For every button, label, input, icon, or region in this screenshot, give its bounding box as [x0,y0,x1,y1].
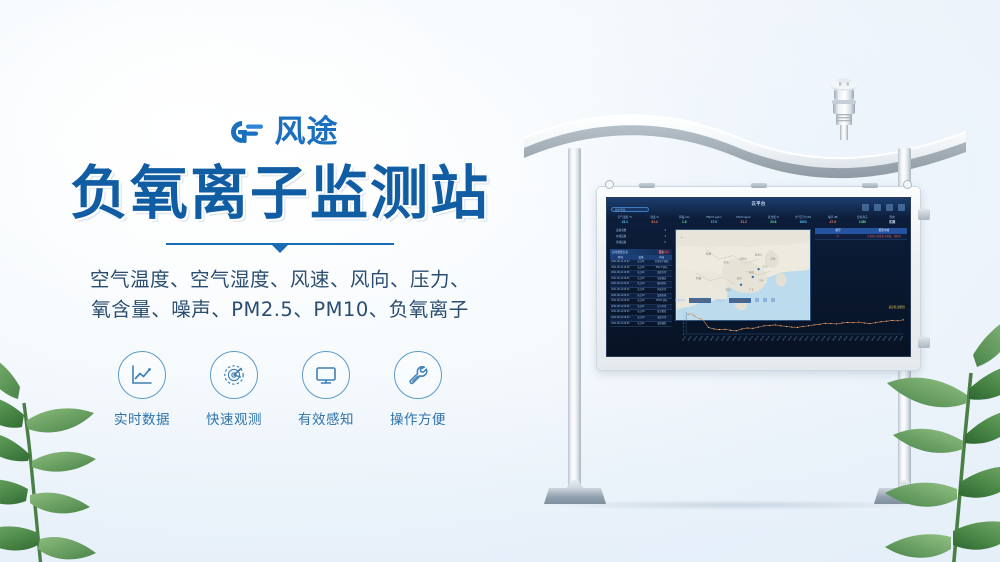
table-row[interactable]: 2021-08-12 08:06站点01湿度偏低 [610,322,672,328]
table-cell: 2021-08-12 08:06 [610,322,631,327]
device-stat-value: 3 [665,229,666,233]
mounting-lug-icon [903,180,912,189]
svg-text:广东: 广东 [749,288,755,292]
table-cell: 风速异常 [651,288,672,293]
kpi-value: 1280 [848,220,878,225]
device-stat-label: 在线设备 [616,235,626,239]
chart-type-select[interactable] [729,298,751,303]
login-label: 用户登录 [612,208,648,213]
svg-text:四川: 四川 [737,276,743,280]
table-cell: 2021-08-12 08:33 [610,310,631,315]
feature-label: 操作方便 [390,408,446,428]
svg-text:08-22: 08-22 [799,335,804,341]
poster-canvas: 风途 负氧离子监测站 空气温度、空气湿度、风速、风向、压力、 氧含量、噪声、PM… [0,0,1000,562]
kpi-value: 31.2 [729,220,759,225]
svg-text:08-18: 08-18 [777,335,782,341]
kpi-item: 风向东南 [877,216,907,225]
svg-text:08-25: 08-25 [816,335,821,341]
table-cell: 站点01 [631,260,652,265]
svg-text:08-12: 08-12 [743,335,748,341]
kpi-item: 噪声 dB47.6 [818,216,848,225]
table-cell: 2021-08-12 09:41 [610,282,631,287]
device-stat-value: 0 [665,241,666,245]
svg-text:08-15: 08-15 [760,335,765,341]
dashboard-screen[interactable]: 云平台 用户登录 空气温度 ℃23.1湿度 %61.4风速 m/s1.8PM2.… [606,197,911,357]
left-panel: 设备总数3在线设备3离线设备0 实时报警信息 更多 >> 时间设备内容 2021… [610,228,672,353]
device-stat-label: 离线设备 [616,241,626,245]
svg-text:08-16: 08-16 [766,335,771,341]
chart-controls[interactable]: 开始时间 数据类型 [675,298,907,303]
kpi-item: 空气温度 ℃23.1 [610,216,640,225]
svg-text:6: 6 [683,315,685,317]
kpi-item: 氧含量 %20.8 [759,216,789,225]
svg-text:09-07: 09-07 [888,335,893,341]
kpi-value: 23.1 [610,220,640,225]
table-cell: 站点01 [631,322,652,327]
svg-text:08-31: 08-31 [849,335,854,341]
alarm-panel-cell: 负氧离子浓度低于阈值，请检查 [861,234,907,239]
marketing-text-column: 风途 负氧离子监测站 空气温度、空气湿度、风速、风向、压力、 氧含量、噪声、PM… [0,0,560,562]
brand-logo: 风途 [222,112,339,152]
chart-date-input[interactable] [689,298,711,303]
svg-text:08-26: 08-26 [821,335,826,341]
svg-text:08-14: 08-14 [755,335,760,341]
brand-name: 风途 [275,117,339,148]
kpi-item: 大气压力 hPa1003 [788,216,818,225]
alarm-list-body: 2021-08-12 10:22站点01负氧离子偏低2021-08-12 10:… [610,260,672,327]
svg-text:09-04: 09-04 [872,335,877,341]
table-cell: 设备离线 [651,294,672,299]
table-cell: 2021-08-12 08:48 [610,305,631,310]
svg-text:云南: 云南 [725,288,731,292]
feature-icon-circle [302,351,350,399]
svg-text:09-03: 09-03 [866,335,871,341]
monitor-icon [313,362,339,388]
wall-bracket-icon [918,337,930,348]
svg-text:08-03: 08-03 [693,335,698,341]
table-cell: 压力异常 [651,305,672,310]
svg-text:4: 4 [683,322,685,324]
toolbar-icon-2[interactable] [874,204,881,211]
feature-label: 快速观测 [206,408,262,428]
feature-item-realtime-data[interactable]: 实时数据 [109,351,175,428]
svg-text:08-02: 08-02 [688,335,693,341]
feature-icon-circle [210,351,258,399]
chart-type-label: 数据类型 [715,298,725,302]
table-cell: 负氧离子偏低 [651,260,672,265]
kpi-item: PM10 ug/m³31.2 [729,216,759,225]
table-cell: 温度异常 [651,271,672,276]
svg-text:西藏: 西藏 [696,276,702,280]
chart-date-label: 开始时间 [675,298,685,302]
device-stats: 设备总数3在线设备3离线设备0 [610,228,672,246]
history-line-chart: 012456708-0108-0208-0308-0408-0508-0608-… [675,309,907,345]
mounting-clip-icon [751,183,767,188]
table-cell: 2021-08-12 09:54 [610,277,631,282]
mounting-clip-icon [862,183,878,188]
table-cell: 站点01 [631,305,652,310]
table-cell: 2021-08-12 10:22 [610,260,631,265]
monitoring-station-illustration: 云平台 用户登录 空气温度 ℃23.1湿度 %61.4风速 m/s1.8PM2.… [520,0,1000,562]
table-cell: 站点03 [631,294,652,299]
table-cell: 站点01 [631,288,652,293]
table-cell: 站点02 [631,282,652,287]
table-cell: 2021-08-12 09:30 [610,288,631,293]
kpi-item: 湿度 %61.4 [640,216,670,225]
svg-text:08-20: 08-20 [788,335,793,341]
table-cell: 站点02 [631,299,652,304]
table-cell: 湿度偏低 [651,322,672,327]
table-cell: PM2.5 超标 [651,266,672,271]
chart-button-1[interactable] [755,298,759,302]
support-post-left [568,148,581,496]
svg-text:09-05: 09-05 [877,335,882,341]
table-cell: 2021-08-12 10:05 [610,271,631,276]
table-cell: 站点02 [631,316,652,321]
feature-label: 有效感知 [298,408,354,428]
device-stat-row: 离线设备0 [610,240,672,246]
feature-icon-circle [118,351,166,399]
page-title: 负氧离子监测站 [70,162,490,225]
dashboard-toolbar[interactable] [862,204,905,211]
svg-text:08-11: 08-11 [738,335,743,341]
post-base-plate-left [544,488,606,504]
svg-text:08-09: 08-09 [727,335,732,341]
svg-text:08-13: 08-13 [749,335,754,341]
toolbar-icon-3[interactable] [886,204,893,211]
parameter-list-line-1: 空气温度、空气湿度、风速、风向、压力、 [90,265,470,295]
table-cell: 站点03 [631,277,652,282]
feature-label: 实时数据 [114,408,170,428]
display-housing: 云平台 用户登录 空气温度 ℃23.1湿度 %61.4风速 m/s1.8PM2.… [596,186,921,371]
kpi-value: 1.8 [669,220,699,225]
dashboard: 云平台 用户登录 空气温度 ℃23.1湿度 %61.4风速 m/s1.8PM2.… [607,198,910,356]
alarm-rows: 01负氧离子浓度低于阈值，请检查 [815,234,907,240]
svg-text:新疆: 新疆 [706,251,712,255]
feature-item-effective-sensing[interactable]: 有效感知 [293,351,359,428]
kpi-value: 17.0 [699,220,729,225]
table-cell: PM10 超标 [651,299,672,304]
table-cell: 氧含量低 [651,310,672,315]
svg-text:山东: 山东 [763,264,769,268]
line-chart-icon [129,362,155,388]
svg-text:青海: 青海 [723,260,729,264]
kpi-value: 61.4 [640,220,670,225]
device-stat-value: 3 [665,235,666,239]
chart-legend: 最高值 最低值 [889,305,905,309]
divider-triangle-icon [271,244,289,253]
post-base-plate-right [874,488,936,504]
svg-text:09-08: 09-08 [894,335,899,341]
svg-text:08-23: 08-23 [805,335,810,341]
kpi-item: 风速 m/s1.8 [669,216,699,225]
table-cell: 温度异常 [651,316,672,321]
device-stat-label: 设备总数 [616,229,626,233]
svg-text:09-09: 09-09 [899,335,904,341]
chart-button-3[interactable] [771,298,775,302]
table-cell: 2021-08-12 09:02 [610,299,631,304]
svg-text:08-07: 08-07 [716,335,721,341]
svg-text:08-04: 08-04 [699,335,704,341]
wrench-icon [405,362,431,388]
feature-item-easy-operation[interactable]: 操作方便 [385,351,451,428]
alarm-list-more-link[interactable]: 更多 >> [657,250,670,254]
parameter-list: 空气温度、空气湿度、风速、风向、压力、 氧含量、噪声、PM2.5、PM10、负氧… [90,265,470,325]
toolbar-icon-4[interactable] [898,204,905,211]
svg-text:08-17: 08-17 [771,335,776,341]
alarm-panel-cell: 01 [815,234,861,239]
svg-text:09-02: 09-02 [860,335,865,341]
ultrasonic-weather-sensor [820,78,868,142]
svg-text:08-30: 08-30 [844,335,849,341]
login-button[interactable]: 用户登录 [611,207,649,212]
svg-text:08-19: 08-19 [782,335,787,341]
table-cell: 2021-08-12 08:20 [610,316,631,321]
kpi-item: 负氧离子1280 [848,216,878,225]
gf-monogram-icon [222,116,268,148]
feature-list: 实时数据 快速观测 [109,351,451,428]
svg-text:09-06: 09-06 [883,335,888,341]
toolbar-icon-1[interactable] [862,204,869,211]
table-cell: 湿度偏高 [651,277,672,282]
feature-icon-circle [394,351,442,399]
table-cell: 站点02 [631,266,652,271]
mounting-clip-icon [639,183,655,188]
svg-text:08-27: 08-27 [827,335,832,341]
history-chart-panel: 开始时间 数据类型 负氧离子 历史曲线 最高值 最低值 012456708-01… [675,298,907,353]
svg-text:黑龙江: 黑龙江 [755,252,763,256]
svg-text:08-24: 08-24 [810,335,815,341]
kpi-strip: 空气温度 ℃23.1湿度 %61.4风速 m/s1.8PM2.5 ug/m³17… [610,216,907,225]
svg-text:08-01: 08-01 [682,335,687,341]
chart-button-2[interactable] [763,298,767,302]
wall-bracket-icon [918,209,930,220]
kpi-value: 1003 [788,220,818,225]
table-cell: 2021-08-12 10:18 [610,266,631,271]
svg-text:08-06: 08-06 [710,335,715,341]
svg-text:江苏: 江苏 [759,278,765,282]
table-cell: 站点01 [631,271,652,276]
table-cell: 2021-08-12 09:17 [610,294,631,299]
table-cell: 噪声超标 [651,282,672,287]
right-alarm-panel: 编号报警内容 01负氧离子浓度低于阈值，请检查 [815,228,907,300]
table-cell: 站点03 [631,310,652,315]
svg-text:08-29: 08-29 [838,335,843,341]
mounting-lug-icon [605,180,614,189]
svg-text:河南: 河南 [749,270,755,274]
svg-text:08-28: 08-28 [833,335,838,341]
kpi-value: 20.8 [759,220,789,225]
svg-text:09-01: 09-01 [855,335,860,341]
svg-text:1: 1 [683,330,685,332]
svg-text:吉林: 吉林 [770,256,776,260]
svg-text:08-10: 08-10 [732,335,737,341]
svg-text:08-21: 08-21 [794,335,799,341]
svg-text:内蒙古: 内蒙古 [739,256,747,260]
kpi-value: 47.6 [818,220,848,225]
kpi-value: 东南 [877,220,907,225]
parameter-list-line-2: 氧含量、噪声、PM2.5、PM10、负氧离子 [90,295,470,325]
title-divider [166,239,394,253]
feature-item-fast-observation[interactable]: 快速观测 [201,351,267,428]
svg-text:08-08: 08-08 [721,335,726,341]
svg-text:2: 2 [683,326,685,328]
alarm-list-title: 实时报警信息 [612,250,628,254]
svg-text:5: 5 [683,319,685,321]
kpi-item: PM2.5 ug/m³17.0 [699,216,729,225]
svg-text:7: 7 [683,311,685,313]
svg-text:08-05: 08-05 [705,335,710,341]
alarm-panel-row[interactable]: 01负氧离子浓度低于阈值，请检查 [815,234,907,240]
radar-scan-icon [221,362,247,388]
